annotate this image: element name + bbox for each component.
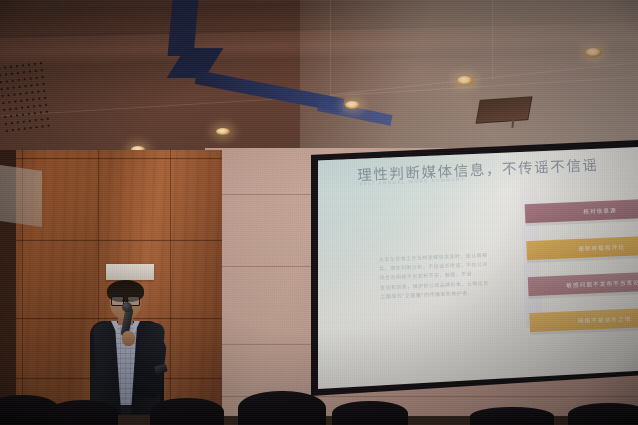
wall-plaque (106, 264, 154, 280)
presenter (84, 283, 176, 415)
ceiling-air-vent (475, 96, 532, 124)
audience-head (48, 400, 118, 425)
ceiling-downlight (457, 76, 473, 85)
presenter-collar-right (134, 321, 140, 334)
audience-head (150, 398, 224, 425)
presenter-collar-left (111, 321, 117, 334)
presentation-photo-scene: 理性判断媒体信息，不传谣不信谣 2017 ANNUAL WORK SUMMARY… (0, 0, 638, 425)
slide-content: 理性判断媒体信息，不传谣不信谣 2017 ANNUAL WORK SUMMARY… (318, 147, 638, 389)
presentation-clicker (154, 364, 168, 375)
ceiling-downlight (345, 101, 360, 109)
microphone-head (122, 302, 132, 312)
ceiling (0, 0, 638, 152)
audience-head (332, 401, 408, 425)
acoustic-perforated-panel (0, 59, 52, 136)
ceiling-downlight (585, 48, 602, 57)
ceiling-downlight (216, 128, 230, 135)
audience-head (568, 403, 638, 425)
ceiling-seam-vertical (330, 0, 331, 96)
slide-body-text: 大家在日常工作及转发媒体信息时，应认真核 实、理性判断分析，不信谣不传谣，不在公… (379, 252, 495, 303)
ceiling-seam-vertical (492, 0, 493, 80)
projection-screen: 理性判断媒体信息，不传谣不信谣 2017 ANNUAL WORK SUMMARY… (318, 147, 638, 389)
presenter-hand (122, 331, 135, 346)
side-projection-screen (0, 165, 42, 227)
wood-seam (0, 158, 222, 159)
audience-head (238, 391, 326, 425)
audience-head (470, 407, 554, 425)
wood-seam (0, 240, 222, 241)
